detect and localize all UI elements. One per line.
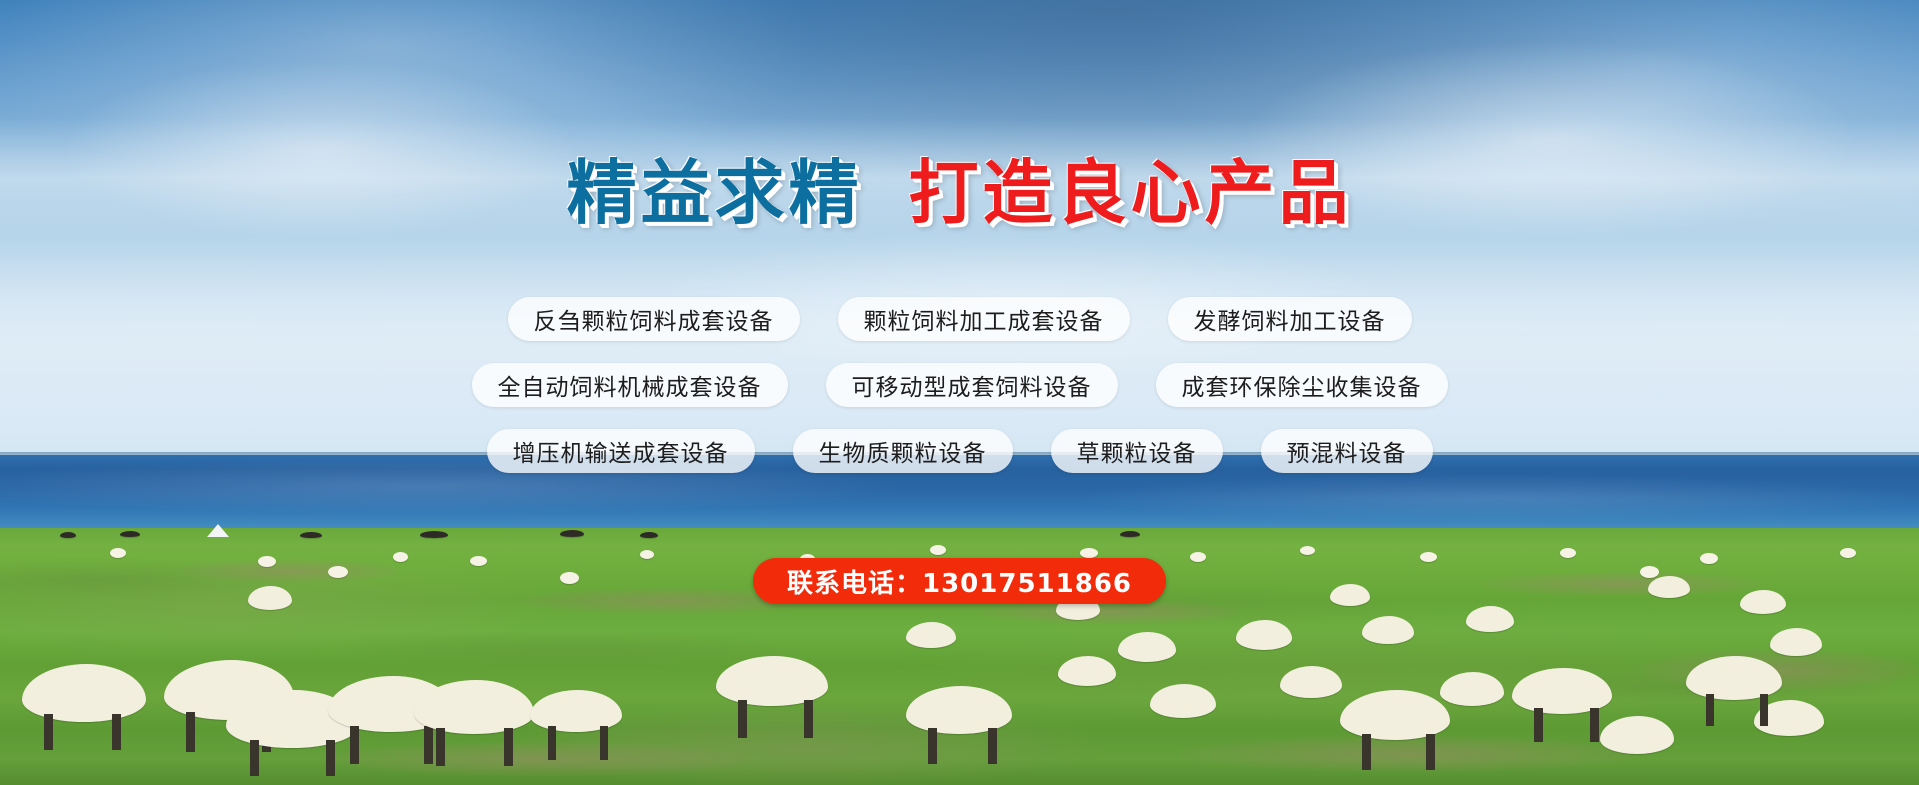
sheep-leg bbox=[988, 728, 997, 764]
sheep-leg bbox=[504, 728, 513, 766]
sheep bbox=[1840, 548, 1856, 558]
sheep-leg bbox=[1426, 734, 1435, 770]
distant-livestock bbox=[300, 532, 322, 538]
sheep bbox=[1080, 548, 1098, 558]
contact-phone-button[interactable]: 联系电话：13017511866 bbox=[753, 558, 1166, 604]
sheep bbox=[1280, 666, 1342, 698]
distant-livestock bbox=[1120, 531, 1140, 537]
sheep bbox=[1058, 656, 1116, 686]
sheep-leg bbox=[1760, 694, 1768, 726]
sheep bbox=[1600, 716, 1674, 754]
headline-red-text: 打造良心产品 bbox=[909, 152, 1353, 234]
pill-grass-pellet-equipment[interactable]: 草颗粒设备 bbox=[1051, 429, 1223, 473]
sheep bbox=[1560, 548, 1576, 558]
sheep-leg bbox=[738, 700, 747, 738]
sheep-leg bbox=[436, 728, 445, 766]
distant-livestock bbox=[420, 531, 448, 538]
sheep-leg bbox=[548, 726, 556, 760]
sheep bbox=[1362, 616, 1414, 644]
sheep bbox=[930, 545, 946, 555]
pill-pellet-feed-processing-complete-equipment[interactable]: 颗粒饲料加工成套设备 bbox=[838, 297, 1130, 341]
sheep-leg bbox=[1590, 708, 1599, 742]
pill-row-3: 增压机输送成套设备 生物质颗粒设备 草颗粒设备 预混料设备 bbox=[0, 429, 1919, 473]
contact-phone-wrapper: 联系电话：13017511866 bbox=[0, 558, 1919, 604]
distant-livestock bbox=[640, 532, 658, 538]
sheep-leg bbox=[250, 740, 259, 776]
sheep bbox=[1440, 672, 1504, 706]
pill-fermented-feed-processing-equipment[interactable]: 发酵饲料加工设备 bbox=[1168, 297, 1412, 341]
distant-livestock bbox=[60, 532, 76, 538]
distant-livestock bbox=[560, 530, 584, 537]
sheep bbox=[1236, 620, 1292, 650]
sheep-leg bbox=[1706, 694, 1714, 726]
headline: 精益求精打造良心产品 bbox=[0, 158, 1919, 228]
sheep bbox=[1118, 632, 1176, 662]
headline-blue-text: 精益求精 bbox=[567, 152, 863, 234]
pill-mobile-complete-feed-equipment[interactable]: 可移动型成套饲料设备 bbox=[826, 363, 1118, 407]
pill-fully-automatic-feed-machinery-complete-equipment[interactable]: 全自动饲料机械成套设备 bbox=[472, 363, 788, 407]
sheep bbox=[1770, 628, 1822, 656]
pill-row-1: 反刍颗粒饲料成套设备 颗粒饲料加工成套设备 发酵饲料加工设备 bbox=[0, 297, 1919, 341]
sheep-leg bbox=[112, 714, 121, 750]
sheep-leg bbox=[44, 714, 53, 750]
sheep bbox=[906, 622, 956, 648]
sheep bbox=[1466, 606, 1514, 632]
distant-livestock bbox=[120, 531, 140, 537]
sheep-leg bbox=[1534, 708, 1543, 742]
sheep-leg bbox=[600, 726, 608, 760]
pill-booster-conveying-complete-equipment[interactable]: 增压机输送成套设备 bbox=[487, 429, 755, 473]
sheep bbox=[530, 690, 622, 732]
sheep-leg bbox=[1362, 734, 1371, 770]
sheep-leg bbox=[326, 740, 335, 776]
yurt-tent bbox=[207, 524, 229, 537]
sheep bbox=[110, 548, 126, 558]
sheep-leg bbox=[186, 712, 195, 752]
pill-row-2: 全自动饲料机械成套设备 可移动型成套饲料设备 成套环保除尘收集设备 bbox=[0, 363, 1919, 407]
sheep bbox=[1150, 684, 1216, 718]
product-category-pills: 反刍颗粒饲料成套设备 颗粒饲料加工成套设备 发酵饲料加工设备 全自动饲料机械成套… bbox=[0, 297, 1919, 495]
pill-biomass-pellet-equipment[interactable]: 生物质颗粒设备 bbox=[793, 429, 1013, 473]
sheep-leg bbox=[350, 726, 359, 764]
pill-premix-feed-equipment[interactable]: 预混料设备 bbox=[1261, 429, 1433, 473]
pill-ruminant-pellet-feed-complete-equipment[interactable]: 反刍颗粒饲料成套设备 bbox=[508, 297, 800, 341]
sheep bbox=[1300, 546, 1315, 555]
sheep-leg bbox=[804, 700, 813, 738]
sheep-leg bbox=[928, 728, 937, 764]
sheep-leg bbox=[424, 726, 433, 764]
promo-banner: 精益求精打造良心产品 反刍颗粒饲料成套设备 颗粒饲料加工成套设备 发酵饲料加工设… bbox=[0, 0, 1919, 785]
pill-complete-environmental-dust-collection-equipment[interactable]: 成套环保除尘收集设备 bbox=[1156, 363, 1448, 407]
